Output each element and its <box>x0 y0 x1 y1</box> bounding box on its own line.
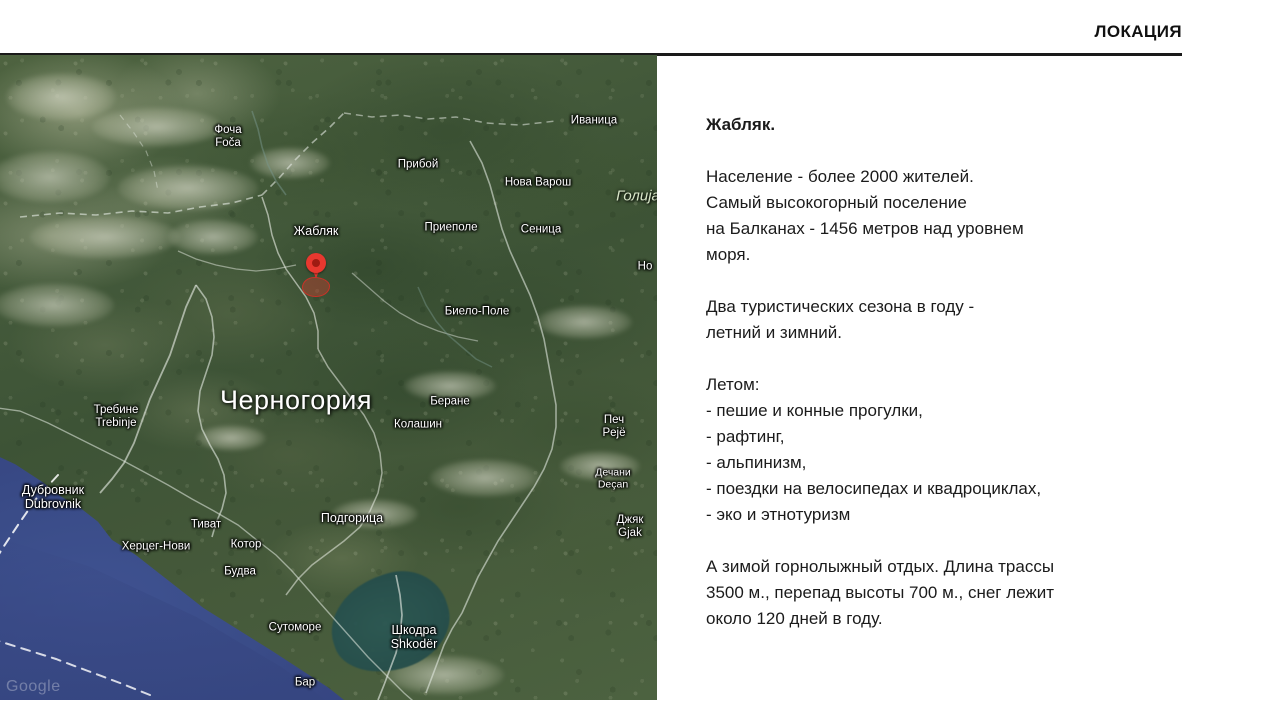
text-line: моря. <box>706 245 750 264</box>
list-item: - поездки на велосипедах и квадроциклах, <box>706 479 1041 498</box>
paragraph-population: Население - более 2000 жителей. Самый вы… <box>706 164 1206 268</box>
page-title: ЛОКАЦИЯ <box>1095 22 1182 42</box>
map-vector-layer <box>0 55 657 700</box>
list-item: - пешие и конные прогулки, <box>706 401 923 420</box>
text-line: Два туристических сезона в году - <box>706 297 974 316</box>
slide-header: ЛОКАЦИЯ <box>660 22 1182 56</box>
list-item: - альпинизм, <box>706 453 806 472</box>
text-line: А зимой горнолыжный отдых. Длина трассы <box>706 557 1054 576</box>
content-panel: Жабляк. Население - более 2000 жителей. … <box>706 112 1206 632</box>
text-line: летний и зимний. <box>706 323 842 342</box>
list-item: - рафтинг, <box>706 427 784 446</box>
paragraph-summer: Летом: - пешие и конные прогулки, - рафт… <box>706 372 1206 528</box>
text-line: Летом: <box>706 375 760 394</box>
list-item: - эко и этнотуризм <box>706 505 850 524</box>
paragraph-winter: А зимой горнолыжный отдых. Длина трассы … <box>706 554 1206 632</box>
text-line: на Балканах - 1456 метров над уровнем <box>706 219 1024 238</box>
map-panel[interactable]: ФочаFoča Иваница Прибой Нова Варош Голиј… <box>0 55 657 700</box>
text-line: Самый высокогорный поселение <box>706 193 967 212</box>
text-line: около 120 дней в году. <box>706 609 883 628</box>
text-line: 3500 м., перепад высоты 700 м., снег леж… <box>706 583 1054 602</box>
content-heading: Жабляк. <box>706 112 1206 138</box>
slide-root: ЛОКАЦИЯ <box>0 0 1280 720</box>
paragraph-seasons: Два туристических сезона в году - летний… <box>706 294 1206 346</box>
text-line: Население - более 2000 жителей. <box>706 167 974 186</box>
